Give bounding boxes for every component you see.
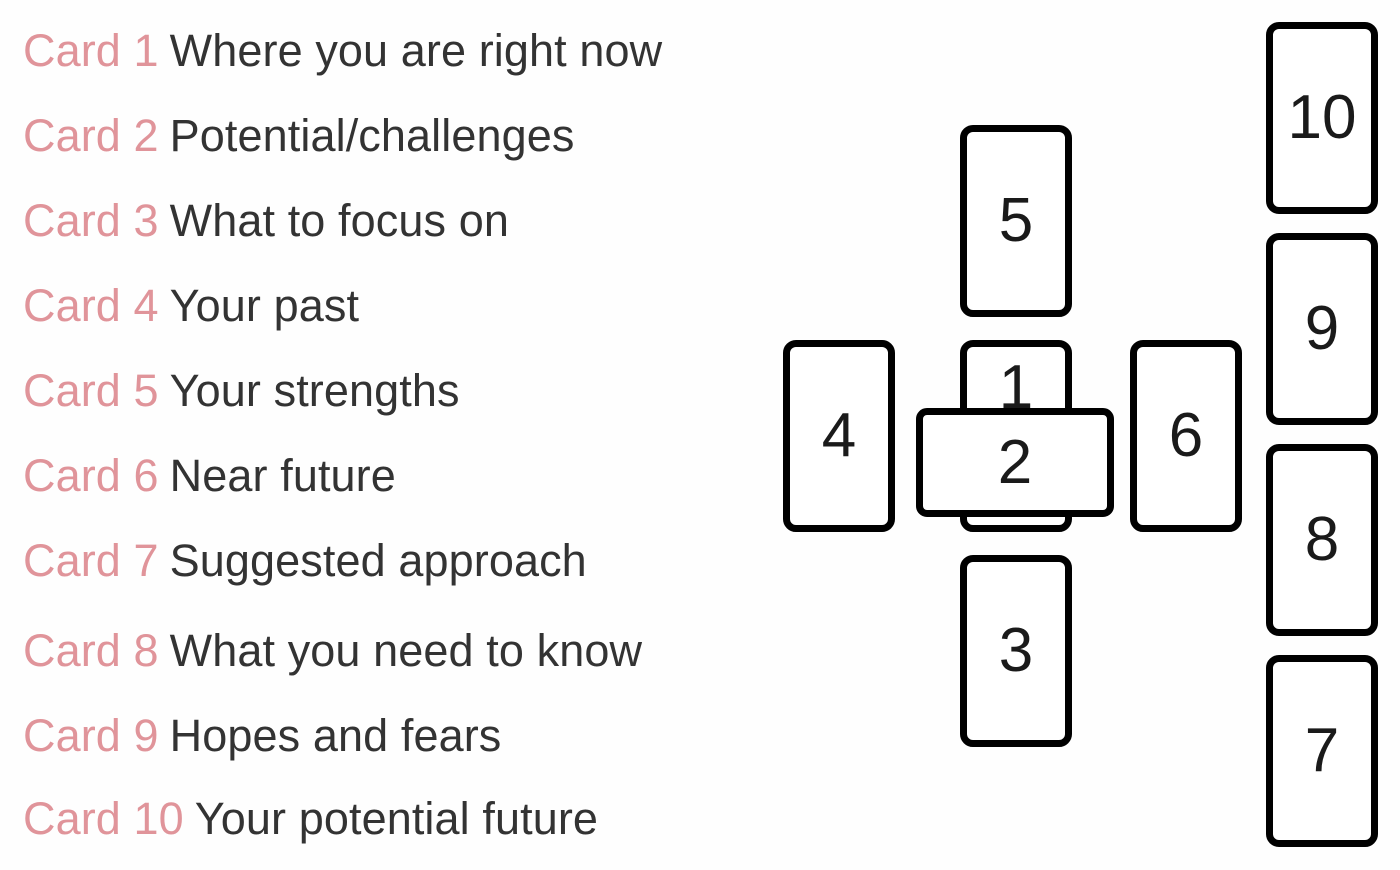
spread-card-position-6: 6 xyxy=(1130,340,1242,532)
spread-card-position-8: 8 xyxy=(1266,444,1378,636)
card-number-2: 2 xyxy=(998,432,1032,494)
spread-card-position-4: 4 xyxy=(783,340,895,532)
spread-card-position-10: 10 xyxy=(1266,22,1378,214)
card-number-7: 7 xyxy=(1305,720,1339,782)
spread-card-position-7: 7 xyxy=(1266,655,1378,847)
card-number-6: 6 xyxy=(1169,405,1203,467)
spread-card-position-3: 3 xyxy=(960,555,1072,747)
tarot-spread-diagram: Card 1Where you are right now Card 2Pote… xyxy=(0,0,1400,870)
spread-card-position-9: 9 xyxy=(1266,233,1378,425)
card-number-3: 3 xyxy=(999,620,1033,682)
card-number-8: 8 xyxy=(1305,509,1339,571)
card-number-10: 10 xyxy=(1288,87,1357,149)
spread-card-position-5: 5 xyxy=(960,125,1072,317)
celtic-cross-layout: 5 4 1 2 6 3 10 9 8 7 xyxy=(0,0,1400,870)
card-number-4: 4 xyxy=(822,405,856,467)
spread-card-position-2-crossing: 2 xyxy=(916,408,1114,517)
card-number-5: 5 xyxy=(999,190,1033,252)
card-number-9: 9 xyxy=(1305,298,1339,360)
